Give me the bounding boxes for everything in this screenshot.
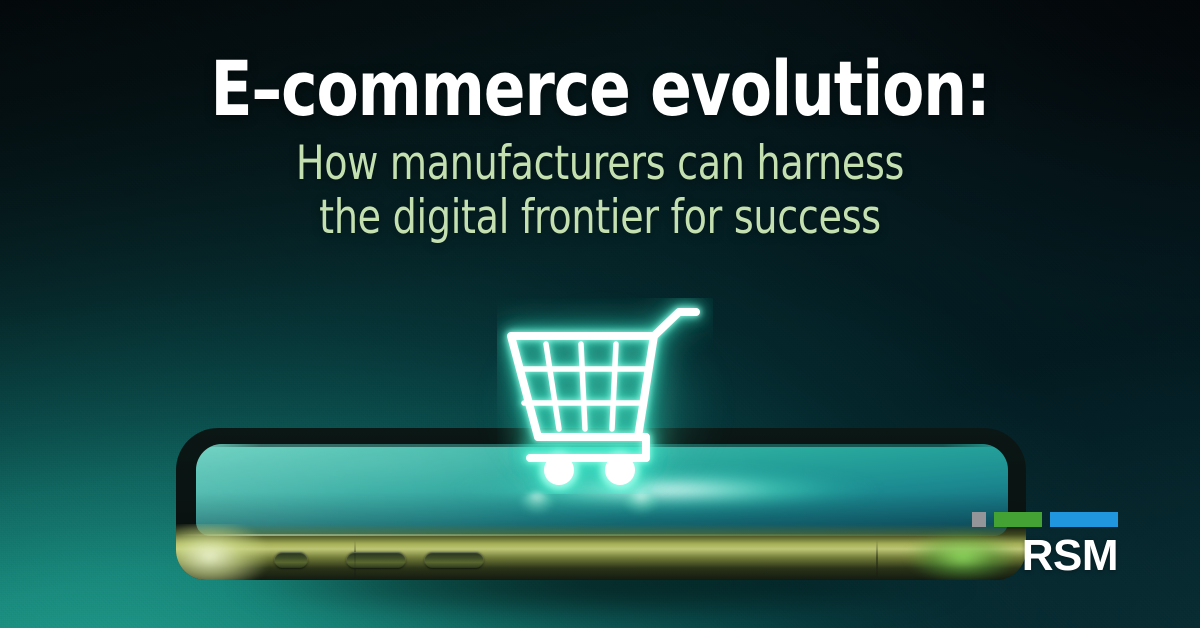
phone-mute-switch bbox=[274, 552, 308, 569]
phone-volume-up-button bbox=[424, 552, 484, 569]
marketing-banner: E–commerce evolution: How manufacturers … bbox=[0, 0, 1200, 628]
phone-volume-down-button bbox=[346, 552, 406, 569]
rsm-logo-bars bbox=[972, 512, 1118, 527]
frame-antenna-seam-right bbox=[876, 540, 878, 580]
shopping-cart-icon bbox=[497, 298, 713, 494]
rsm-bar-green-icon bbox=[994, 512, 1042, 527]
rsm-bar-gray-icon bbox=[972, 512, 986, 527]
rsm-logo[interactable]: RSM bbox=[972, 512, 1122, 584]
page-title: E–commerce evolution: bbox=[60, 52, 1140, 126]
banner-text-block: E–commerce evolution: How manufacturers … bbox=[0, 52, 1200, 246]
page-subtitle-line-2: the digital frontier for success bbox=[60, 191, 1140, 246]
page-subtitle: How manufacturers can harness the digita… bbox=[60, 137, 1140, 246]
rsm-wordmark: RSM bbox=[972, 534, 1118, 578]
page-subtitle-line-1: How manufacturers can harness bbox=[60, 137, 1140, 192]
rsm-bar-blue-icon bbox=[1050, 512, 1118, 527]
